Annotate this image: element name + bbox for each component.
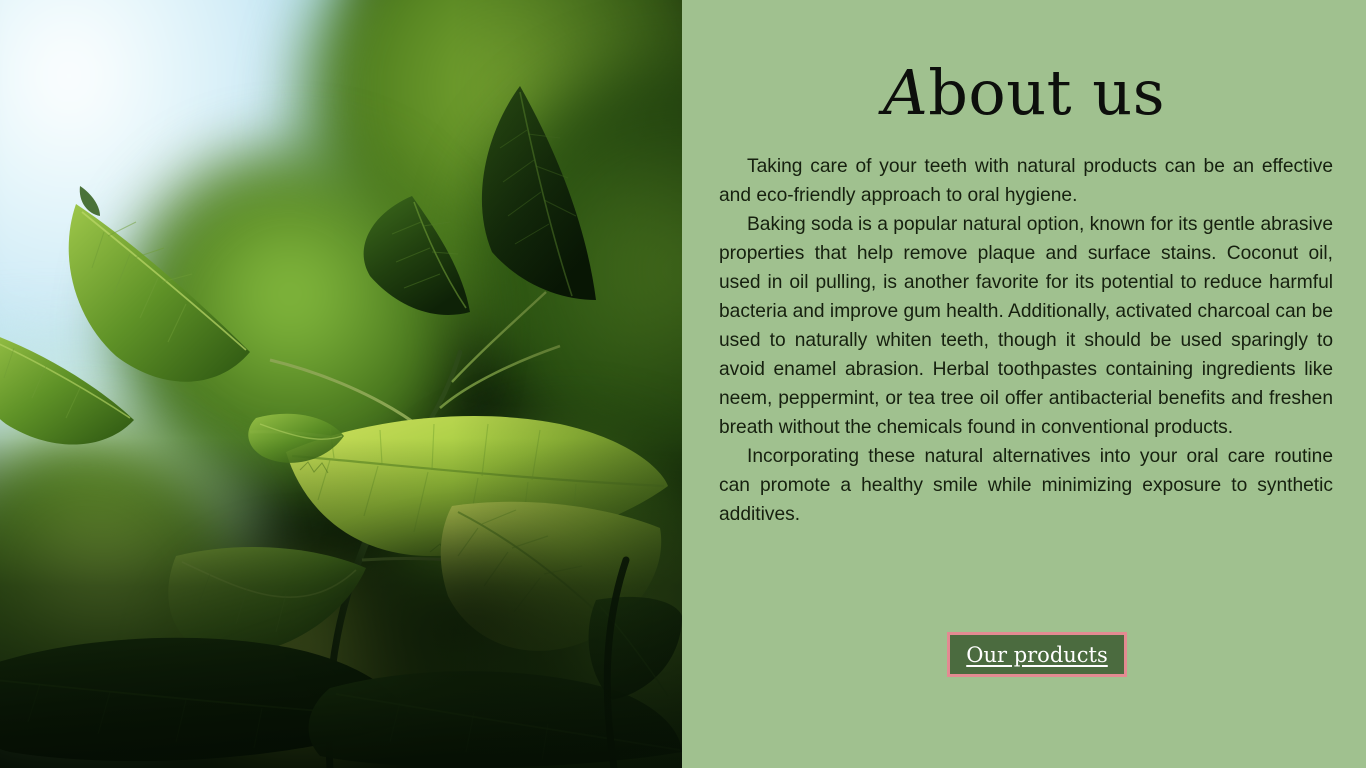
cta-container: Our products — [947, 632, 1127, 677]
about-us-slide: About us Taking care of your teeth with … — [0, 0, 1366, 768]
page-title-initial: A — [883, 56, 928, 129]
backlit-green-leaves-photo — [0, 0, 682, 768]
page-title: About us — [682, 62, 1366, 124]
body-paragraph-1: Taking care of your teeth with natural p… — [719, 152, 1333, 210]
body-paragraph-2: Baking soda is a popular natural option,… — [719, 210, 1333, 442]
photo-right-vignette — [452, 0, 682, 768]
about-us-content-panel: About us Taking care of your teeth with … — [682, 0, 1366, 768]
page-title-rest: bout us — [928, 56, 1165, 129]
our-products-button[interactable]: Our products — [947, 632, 1127, 677]
about-us-body-text: Taking care of your teeth with natural p… — [719, 152, 1333, 529]
body-paragraph-3: Incorporating these natural alternatives… — [719, 442, 1333, 529]
our-products-button-label: Our products — [966, 643, 1108, 667]
leaf-mid-upper-left — [69, 204, 250, 382]
